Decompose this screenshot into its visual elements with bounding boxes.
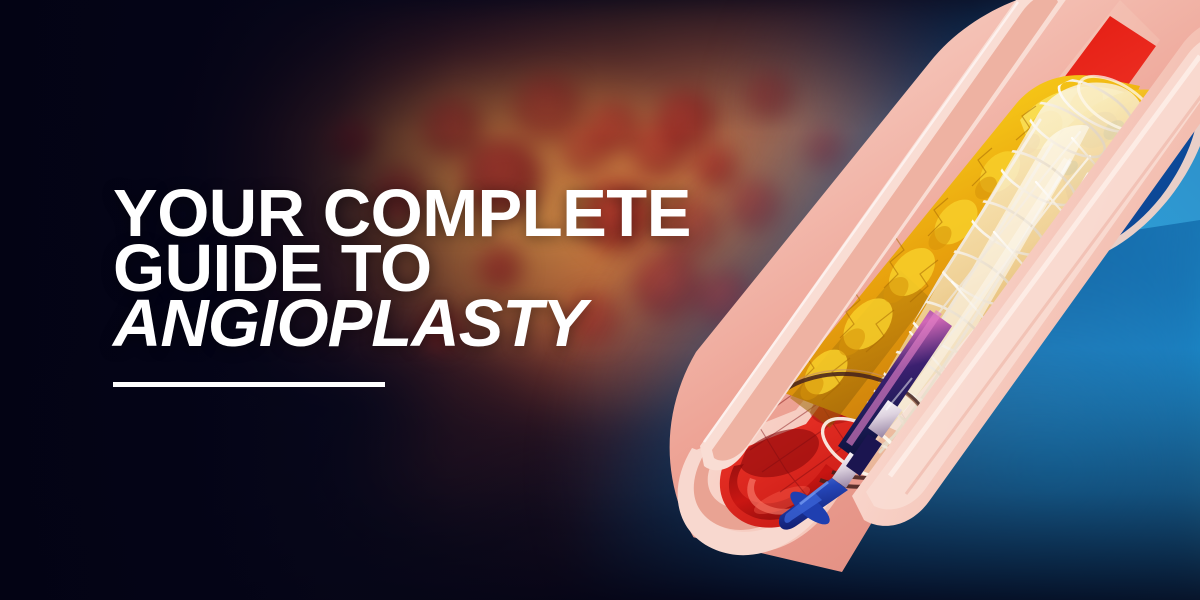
red-blood-cell — [514, 74, 582, 142]
title-underline-rule — [113, 382, 385, 387]
red-blood-cell — [422, 98, 482, 158]
red-blood-cell — [328, 118, 372, 162]
angioplasty-hero-banner: YOUR COMPLETE GUIDE TO ANGIOPLASTY — [0, 0, 1200, 600]
headline-block: YOUR COMPLETE GUIDE TO ANGIOPLASTY — [113, 186, 691, 387]
headline-line-3: ANGIOPLASTY — [113, 296, 691, 351]
